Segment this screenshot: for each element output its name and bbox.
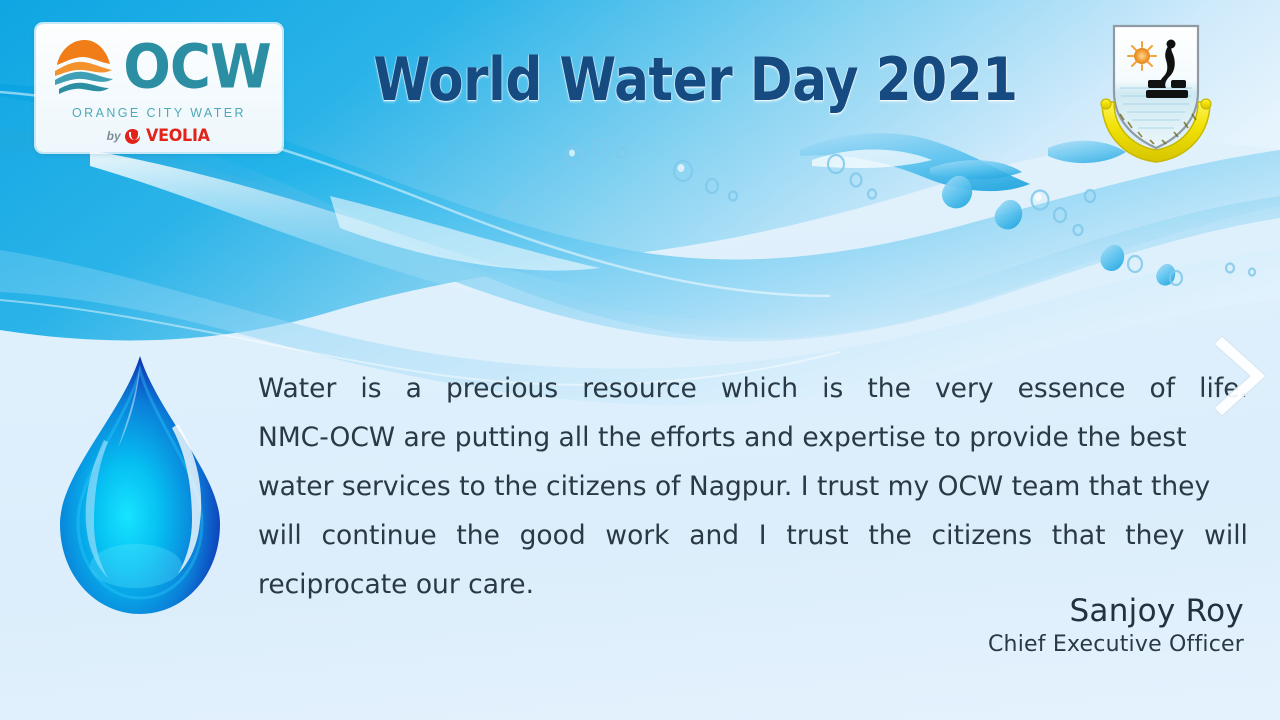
message-line-3: water services to the citizens of Nagpur… xyxy=(258,462,1248,511)
page-title-text: World Water Day 2021 xyxy=(374,50,1018,110)
word: the xyxy=(456,511,500,560)
message-line-4: will continue the good work and I trust … xyxy=(258,511,1248,560)
word: is xyxy=(822,364,843,413)
word: is xyxy=(360,364,381,413)
word: which xyxy=(721,364,798,413)
sun-icon xyxy=(1128,42,1156,70)
word: they xyxy=(1125,511,1184,560)
line-text: water services to the citizens of Nagpur… xyxy=(258,462,1210,511)
by-label: by xyxy=(107,129,121,143)
word: will xyxy=(258,511,302,560)
page-title: World Water Day 2021 xyxy=(396,40,996,120)
word: good xyxy=(520,511,586,560)
word: essence xyxy=(1018,364,1126,413)
ocw-tagline: ORANGE CITY WATER xyxy=(36,106,282,120)
word: work xyxy=(605,511,669,560)
nagpur-municipal-corporation-emblem xyxy=(1098,14,1214,164)
ocw-logo-row: OCW xyxy=(36,30,282,106)
water-droplet-icon xyxy=(52,352,228,620)
word: precious xyxy=(446,364,558,413)
word: the xyxy=(868,511,912,560)
message-body: Water is a precious resource which is th… xyxy=(258,364,1248,609)
line-text: reciprocate our care. xyxy=(258,560,534,609)
word: the xyxy=(867,364,911,413)
word: citizens xyxy=(932,511,1033,560)
word: of xyxy=(1150,364,1176,413)
orange-sun-over-water-icon xyxy=(47,35,119,101)
word: continue xyxy=(321,511,436,560)
signatory-role: Chief Executive Officer xyxy=(988,630,1244,660)
message-line-2: NMC-OCW are putting all the efforts and … xyxy=(258,413,1248,462)
word: resource xyxy=(582,364,697,413)
ocw-wordmark: OCW xyxy=(123,38,270,98)
signatory-name: Sanjoy Roy xyxy=(988,592,1244,630)
veolia-logo-icon xyxy=(125,129,140,144)
word: very xyxy=(935,364,994,413)
message-line-1: Water is a precious resource which is th… xyxy=(258,364,1248,413)
word: that xyxy=(1052,511,1106,560)
word: will xyxy=(1204,511,1248,560)
signature-block: Sanjoy Roy Chief Executive Officer xyxy=(988,592,1244,660)
word: Water xyxy=(258,364,336,413)
chevron-right-icon[interactable] xyxy=(1212,330,1270,422)
world-water-day-banner: OCW ORANGE CITY WATER by VEOLIA World Wa… xyxy=(0,0,1280,720)
line-text: NMC-OCW are putting all the efforts and … xyxy=(258,413,1186,462)
word: a xyxy=(406,364,422,413)
ocw-parent-brand: by VEOLIA xyxy=(36,126,282,146)
word: trust xyxy=(786,511,848,560)
word: I xyxy=(759,511,767,560)
word: and xyxy=(689,511,739,560)
veolia-wordmark: VEOLIA xyxy=(146,126,210,146)
ocw-logo: OCW ORANGE CITY WATER by VEOLIA xyxy=(36,24,282,152)
